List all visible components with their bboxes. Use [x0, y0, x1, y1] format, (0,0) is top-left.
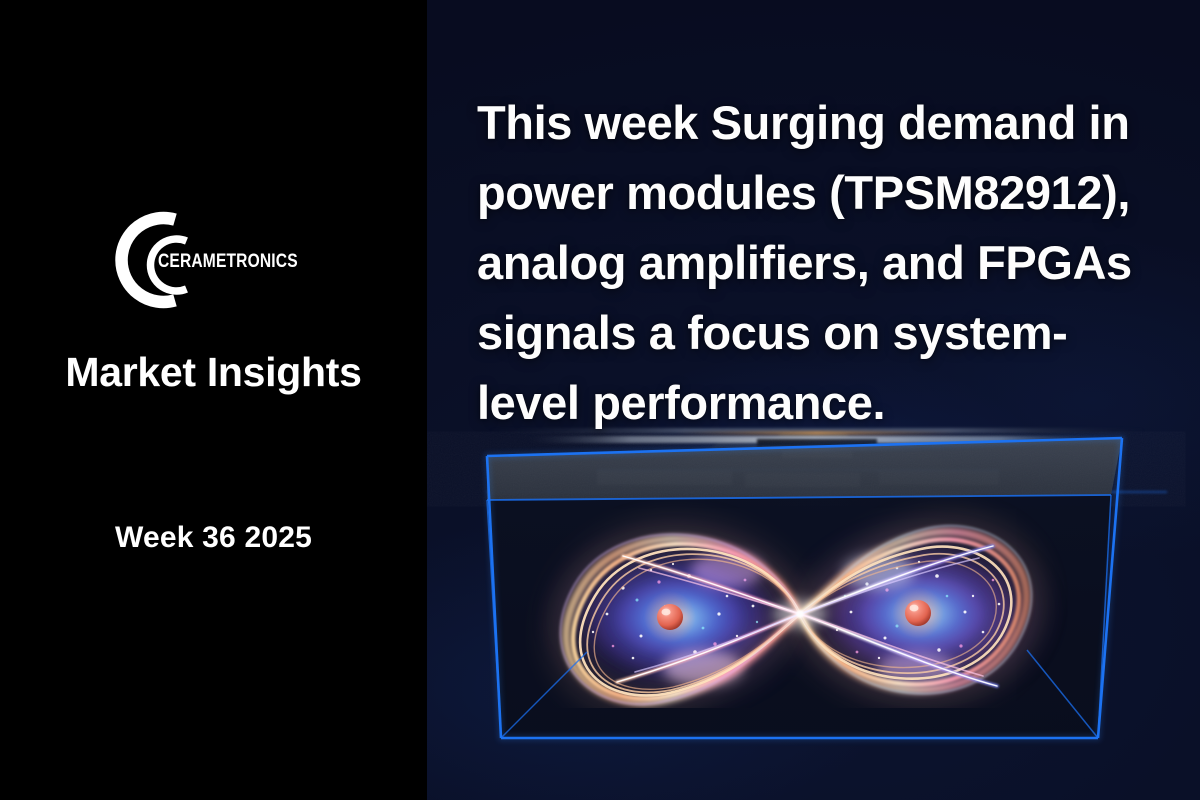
- logo-wordmark-text: CERAMETRONICS: [158, 249, 298, 271]
- poster-canvas: This week Surging demand in power module…: [0, 0, 1200, 800]
- right-panel: This week Surging demand in power module…: [427, 0, 1200, 800]
- left-panel: CERAMETRONICS Market Insights Week 36 20…: [0, 0, 427, 800]
- logo-block: CERAMETRONICS: [0, 205, 427, 325]
- headline-text: This week Surging demand in power module…: [477, 88, 1167, 438]
- page-title: Market Insights: [0, 352, 427, 393]
- week-label: Week 36 2025: [0, 523, 427, 553]
- logo-wordmark: CERAMETRONICS: [94, 205, 334, 315]
